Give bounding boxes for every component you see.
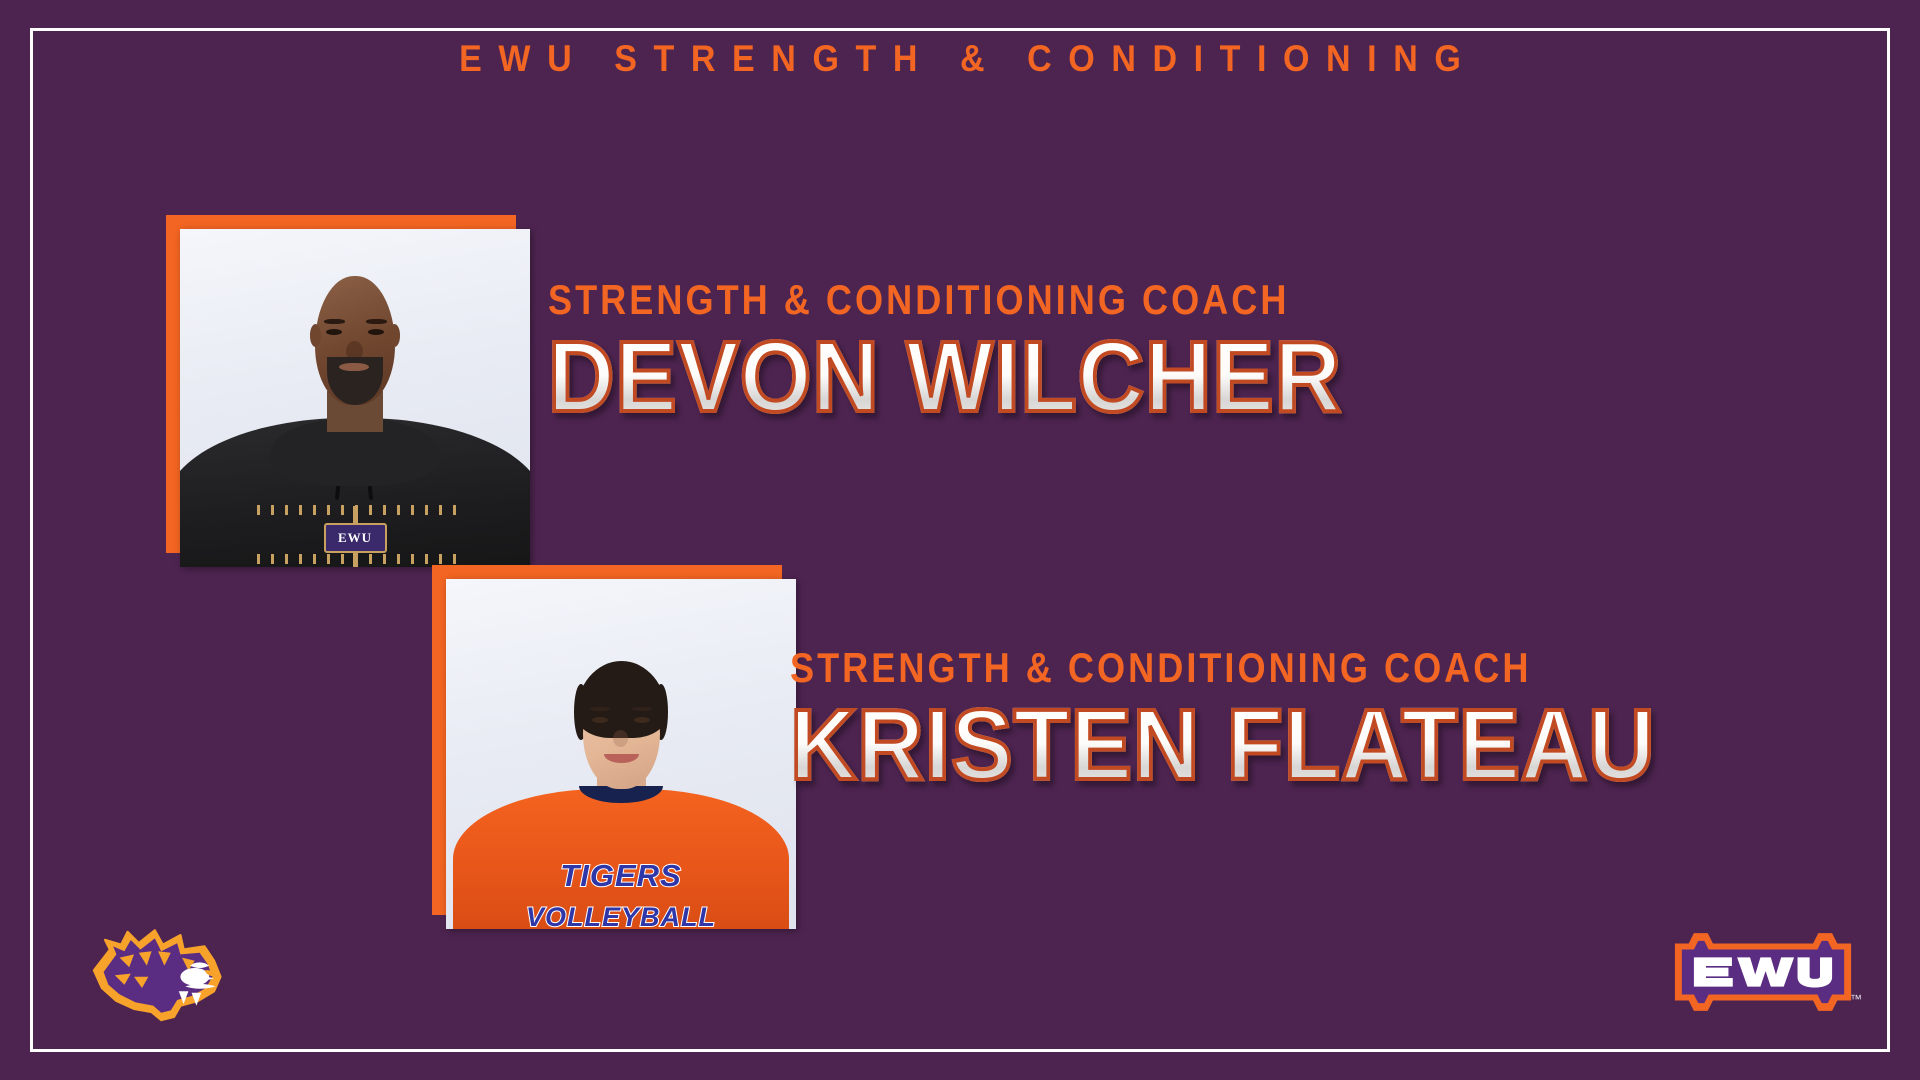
coach-photo-card-wilcher: EWU xyxy=(166,215,516,553)
coach-name-wilcher: DEVON WILCHER xyxy=(548,326,1342,428)
apparel-dash-pattern-upper xyxy=(257,505,460,515)
apparel-chest-logo: EWU xyxy=(324,523,387,553)
ewu-wordmark-icon xyxy=(1668,922,1858,1022)
nose xyxy=(613,730,628,748)
jersey-text-line-2: VOLLEYBALL xyxy=(446,902,796,930)
eye-right xyxy=(368,329,384,335)
tiger-head-icon xyxy=(78,908,238,1028)
coach-photo-flateau: TIGERS VOLLEYBALL xyxy=(446,579,796,929)
portrait-illustration: TIGERS VOLLEYBALL xyxy=(446,579,796,929)
portrait-illustration: EWU xyxy=(180,229,530,567)
trademark-symbol: ™ xyxy=(1850,992,1862,1006)
coach-name-flateau: KRISTEN FLATEAU xyxy=(790,694,1656,796)
coach-name-block-flateau: STRENGTH & CONDITIONING COACH KRISTEN FL… xyxy=(790,644,1731,796)
eyebrow-right xyxy=(366,319,387,324)
coach-role-wilcher: STRENGTH & CONDITIONING COACH xyxy=(548,276,1290,324)
jersey-text-line-1: TIGERS xyxy=(446,858,796,894)
ewu-logo: ™ xyxy=(1668,922,1858,1022)
coach-photo-card-flateau: TIGERS VOLLEYBALL xyxy=(432,565,782,915)
eyebrow-left xyxy=(590,707,610,712)
page-title: EWU STRENGTH & CONDITIONING xyxy=(77,38,1843,80)
apparel-dash-pattern-lower xyxy=(257,554,460,564)
eyebrow-right xyxy=(632,707,652,712)
eyebrow-left xyxy=(324,319,345,324)
tiger-logo xyxy=(78,908,238,1028)
coach-photo-wilcher: EWU xyxy=(180,229,530,567)
coach-name-block-wilcher: STRENGTH & CONDITIONING COACH DEVON WILC… xyxy=(548,276,1411,428)
coach-role-flateau: STRENGTH & CONDITIONING COACH xyxy=(790,644,1599,692)
eye-left xyxy=(326,329,342,335)
mouth xyxy=(339,363,369,372)
